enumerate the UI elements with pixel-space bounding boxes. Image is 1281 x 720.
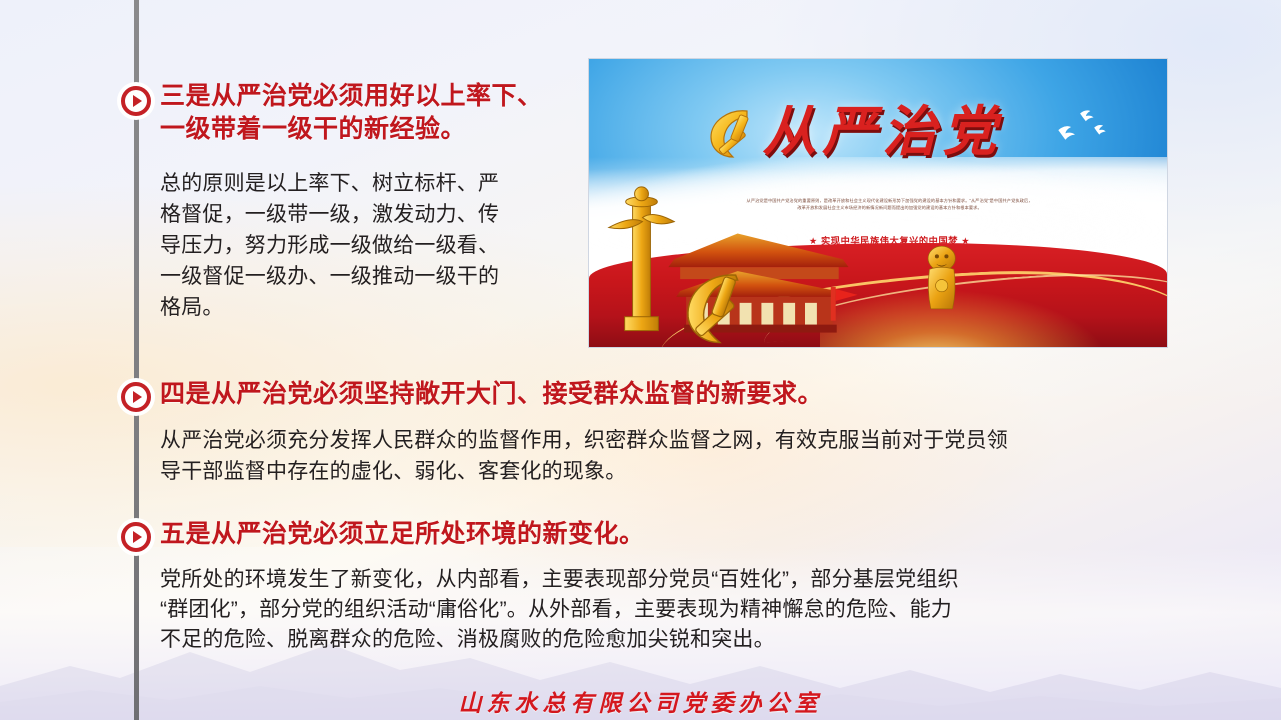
section-block-2: 四是从严治党必须坚持敞开大门、接受群众监督的新要求。 从严治党必须充分发挥人民群… (160, 378, 1170, 487)
section-heading-3: 五是从严治党必须立足所处环境的新变化。 (160, 518, 1175, 551)
guardian-lion-icon (907, 238, 976, 313)
cong-yan-zhi-dang-poster: 从严治党 从严治党是中国共产党治党的重要原则，是改革开放和社会主义现代化建设新形… (588, 58, 1168, 348)
huabiao-pillar-icon (609, 187, 674, 331)
section-heading-2: 四是从严治党必须坚持敞开大门、接受群众监督的新要求。 (160, 378, 1170, 411)
play-circle-icon[interactable] (117, 82, 155, 120)
section-body-1: 总的原则是以上率下、树立标杆、严 格督促，一级带一级，激发动力、传 导压力，努力… (160, 168, 580, 323)
hammer-sickle-icon (699, 105, 761, 163)
poster-title: 从严治党 (762, 105, 1002, 159)
tiananmen-scene-icon (589, 168, 936, 347)
footer-organization-name: 山东水总有限公司党委办公室 (0, 684, 1281, 718)
section-block-3: 五是从严治党必须立足所处环境的新变化。 党所处的环境发生了新变化，从内部看，主要… (160, 518, 1175, 655)
section-block-1: 三是从严治党必须用好以上率下、 一级带着一级干的新经验。 总的原则是以上率下、树… (160, 80, 580, 323)
dove-icon (1005, 102, 1132, 160)
section-heading-1: 三是从严治党必须用好以上率下、 一级带着一级干的新经验。 (160, 80, 580, 146)
slide-canvas: 三是从严治党必须用好以上率下、 一级带着一级干的新经验。 总的原则是以上率下、树… (0, 0, 1281, 720)
play-circle-icon[interactable] (117, 378, 155, 416)
section-body-3: 党所处的环境发生了新变化，从内部看，主要表现部分党员“百姓化”，部分基层党组织 … (160, 565, 1175, 655)
play-circle-icon[interactable] (117, 518, 155, 556)
section-body-2: 从严治党必须充分发挥人民群众的监督作用，织密群众监督之网，有效克服当前对于党员领… (160, 425, 1170, 487)
